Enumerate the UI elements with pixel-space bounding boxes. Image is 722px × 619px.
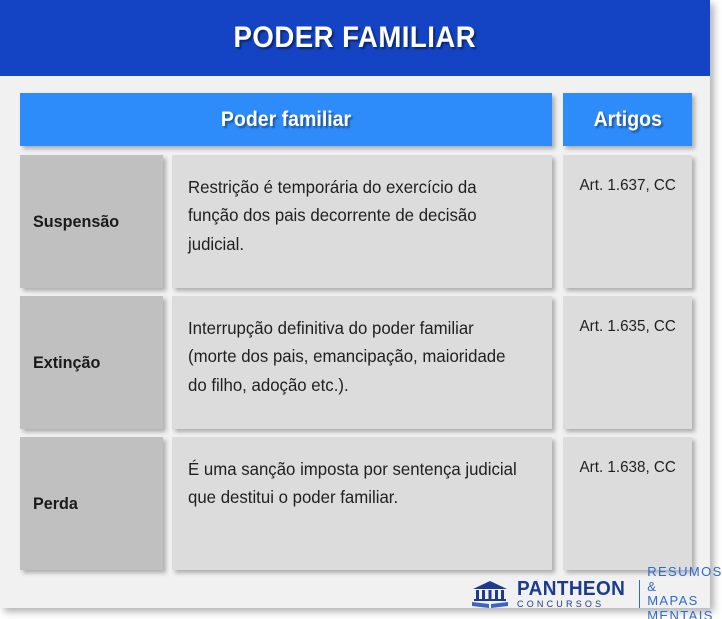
table-header-articles-label: Artigos	[593, 108, 661, 132]
row-article-text: Art. 1.635, CC	[579, 318, 675, 336]
brand-name-primary: PANTHEON	[517, 579, 625, 599]
content-card: PODER FAMILIAR Poder familiar Artigos Su…	[0, 0, 710, 608]
table-header-articles: Artigos	[563, 93, 692, 146]
row-description-cell: Restrição é temporária do exercício da f…	[172, 155, 552, 288]
brand-tagline-block: RESUMOS & MAPAS MENTAIS	[647, 565, 722, 619]
row-label-cell: Perda	[20, 437, 163, 570]
title-bar: PODER FAMILIAR	[0, 0, 710, 76]
table-header-concept-label: Poder familiar	[221, 108, 351, 132]
comparison-table: Poder familiar Artigos Suspensão Restriç…	[20, 93, 692, 578]
row-article-cell: Art. 1.635, CC	[563, 296, 692, 429]
row-label-cell: Suspensão	[20, 155, 163, 288]
brand-tagline-line2: MAPAS MENTAIS	[647, 594, 722, 619]
brand-name-block: PANTHEON CONCURSOS	[517, 579, 631, 609]
row-label-text: Extinção	[33, 353, 100, 373]
row-label-text: Suspensão	[33, 212, 119, 232]
table-row: Perda É uma sanção imposta por sentença …	[20, 437, 692, 570]
row-description-cell: É uma sanção imposta por sentença judici…	[172, 437, 552, 570]
brand-footer: PANTHEON CONCURSOS RESUMOS & MAPAS MENTA…	[470, 565, 722, 619]
page-title: PODER FAMILIAR	[234, 21, 477, 55]
row-article-text: Art. 1.637, CC	[579, 177, 675, 195]
row-label-text: Perda	[33, 494, 78, 514]
table-header-concept: Poder familiar	[20, 93, 552, 146]
row-description-text: É uma sanção imposta por sentença judici…	[188, 455, 522, 512]
pantheon-building-icon	[470, 579, 510, 609]
row-article-cell: Art. 1.637, CC	[563, 155, 692, 288]
row-description-text: Restrição é temporária do exercício da f…	[188, 173, 522, 258]
table-row: Extinção Interrupção definitiva do poder…	[20, 296, 692, 429]
brand-divider	[639, 580, 640, 608]
row-description-cell: Interrupção definitiva do poder familiar…	[172, 296, 552, 429]
row-label-cell: Extinção	[20, 296, 163, 429]
brand-name-secondary: CONCURSOS	[517, 600, 604, 609]
brand-tagline-line1: RESUMOS &	[647, 565, 722, 594]
row-article-text: Art. 1.638, CC	[579, 459, 675, 477]
row-description-text: Interrupção definitiva do poder familiar…	[188, 314, 522, 399]
table-header-row: Poder familiar Artigos	[20, 93, 692, 146]
row-article-cell: Art. 1.638, CC	[563, 437, 692, 570]
infographic-root: PODER FAMILIAR Poder familiar Artigos Su…	[0, 0, 722, 619]
table-row: Suspensão Restrição é temporária do exer…	[20, 155, 692, 288]
brand-wordmark: PANTHEON CONCURSOS RESUMOS & MAPAS MENTA…	[517, 565, 722, 619]
